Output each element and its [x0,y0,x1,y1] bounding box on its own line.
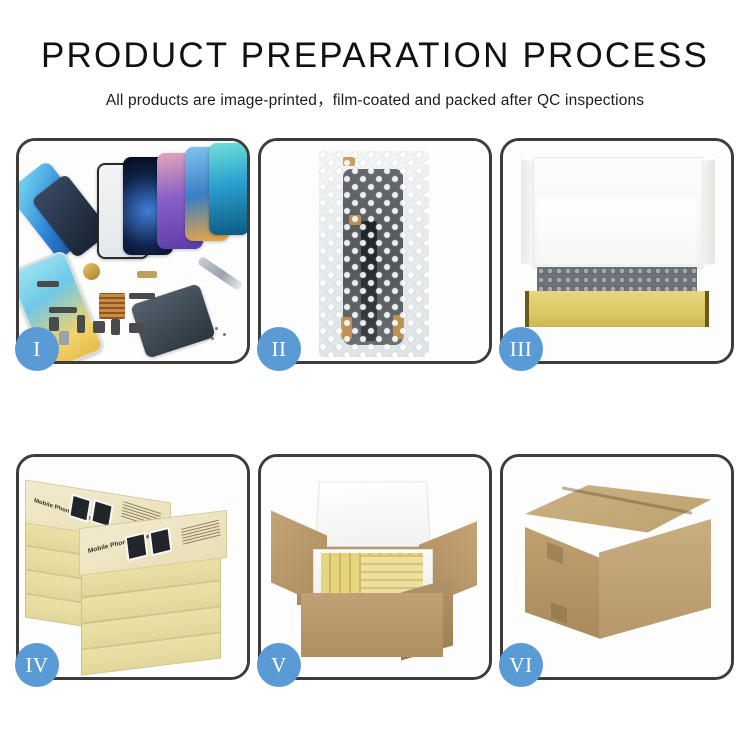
phone-parts-scene [19,141,247,361]
process-step-panel-3[interactable]: III [500,138,734,364]
process-step-panel-1[interactable]: I [16,138,250,364]
step-6-image [503,457,731,677]
carton-front-panel [301,593,443,657]
page-header: PRODUCT PREPARATION PROCESS All products… [0,0,750,110]
sim-tray [59,331,69,345]
screw-3 [211,337,214,340]
connector-part-1 [37,281,59,287]
bubble-wrap-pouch [319,151,429,357]
screwdriver-tool [197,256,243,291]
step-4-image: Mobile Phone Spare Parts Mobile Phone Sp… [19,457,247,677]
step-2-image [261,141,489,361]
step-badge-5: V [257,643,301,687]
camera-module [93,321,105,333]
bubble-texture [319,151,429,357]
box-fineprint-front [181,520,221,547]
step-badge-1: I [15,327,59,371]
flex-cable-3 [77,315,85,333]
process-step-panel-2[interactable]: II [258,138,492,364]
logic-board-chip [99,293,125,319]
process-step-grid: I II III [16,138,734,680]
bubble-wrapped-contents [537,267,697,293]
stacked-boxes: Mobile Phone Spare Parts Mobile Phone Sp… [19,457,247,677]
connector-part-2 [137,271,157,278]
carton-right-face [599,519,711,639]
process-step-panel-6[interactable]: VI [500,454,734,680]
foam-box-lid-open [315,481,431,546]
yellow-inner-box [529,291,705,327]
box-phone-image-4 [149,527,173,557]
flex-cable-4 [129,293,155,299]
step-1-image [19,141,247,361]
process-step-panel-5[interactable]: V [258,454,492,680]
step-badge-2: II [257,327,301,371]
phone-screen-teal [209,143,247,235]
screw-1 [215,327,218,330]
page-subtitle: All products are image-printed，film-coat… [0,88,750,110]
speaker-module [111,319,120,335]
step-5-image [261,457,489,677]
page-title: PRODUCT PREPARATION PROCESS [0,38,750,75]
step-badge-6: VI [499,643,543,687]
box-phone-image-3 [125,532,149,562]
step-badge-4: IV [15,643,59,687]
step-badge-3: III [499,327,543,371]
small-part-1 [129,323,143,333]
process-step-panel-4[interactable]: Mobile Phone Spare Parts Mobile Phone Sp… [16,454,250,680]
step-3-image [503,141,731,361]
box-phone-image-1 [68,493,92,522]
flex-cable-2 [49,317,59,331]
vibration-motor-part [83,263,100,280]
foam-sheet [535,199,699,269]
flex-cable-1 [49,307,77,313]
screw-2 [223,333,226,336]
